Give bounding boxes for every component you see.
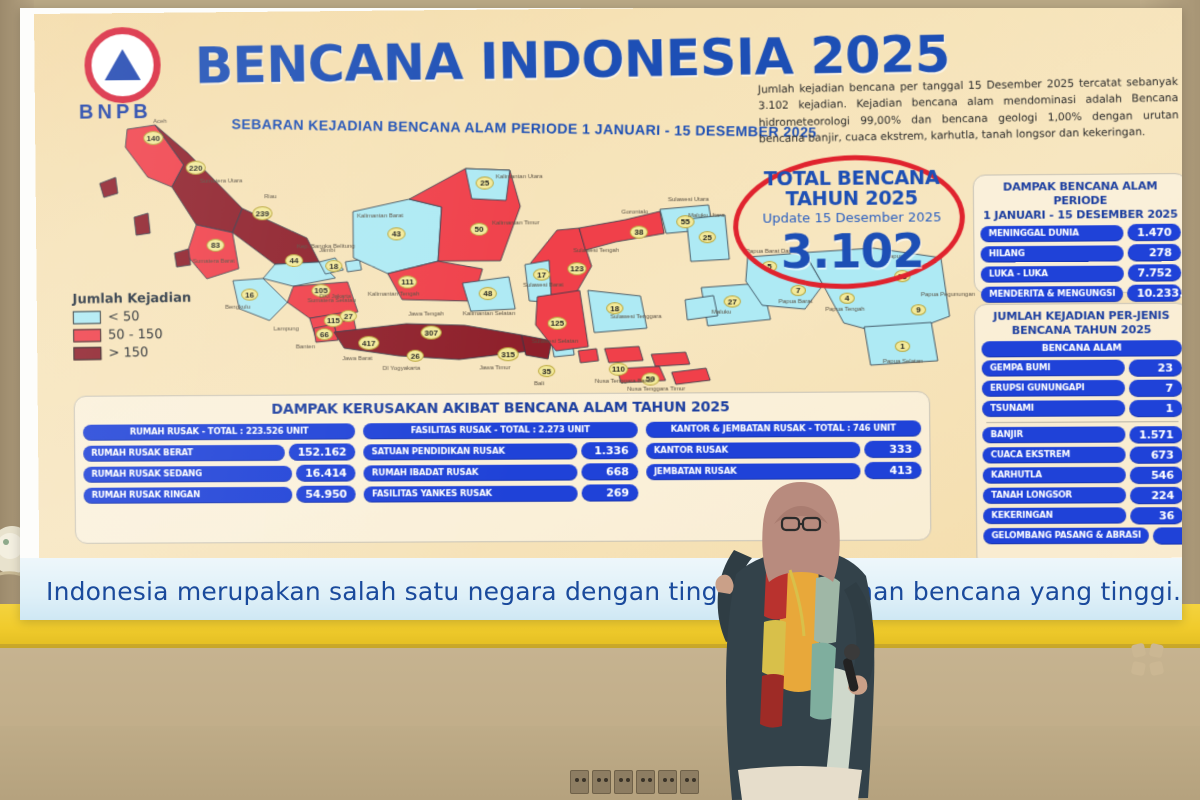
row-meninggal-dunia: MENINGGAL DUNIA 1.470 [980, 224, 1181, 243]
map-bubble-sulawesi-barat: 17 [533, 268, 550, 280]
power-socket [658, 770, 677, 794]
map-bubble-sulawesi-selatan: 125 [548, 317, 567, 330]
legend-label-50-150: 50 - 150 [108, 327, 163, 343]
label-banjir: BANJIR [982, 426, 1125, 443]
label-fasilitas-yankes-rusak: FASILITAS YANKES RUSAK [364, 485, 577, 502]
label-rumah-rusak-ringan: RUMAH RUSAK RINGAN [84, 486, 293, 503]
value-kantor-rusak: 333 [864, 441, 921, 458]
value-luka-luka: 7.752 [1128, 264, 1181, 282]
row-erupsi-gunungapi: ERUPSI GUNUNGAPI 7 [982, 379, 1182, 397]
map-bubble-papua-pegunungan: 9 [911, 304, 926, 315]
map-label-sulawesi-tenggara: Sulawesi Tenggara [610, 314, 661, 320]
label-karhutla: KARHUTLA [983, 467, 1126, 484]
label-rumah-ibadat-rusak: RUMAH IBADAT RUSAK [364, 464, 577, 481]
map-bubble-bangka-belitung: 18 [325, 260, 342, 272]
map-bubble-jawa-timur: 315 [497, 347, 518, 361]
map-bubble-ntb: 110 [609, 363, 628, 376]
map-bubble-jambi: 44 [285, 254, 303, 267]
row-bencana-alam-header: BENCANA ALAM [981, 340, 1182, 357]
map-label-kalimantan-selatan: Kalimantan Selatan [463, 311, 516, 317]
map-label-banten: Banten [296, 344, 315, 350]
value-gelombang-pasang-abrasi: 21 [1153, 527, 1182, 544]
label-tanah-longsor: TANAH LONGSOR [983, 487, 1126, 504]
label-erupsi-gunungapi: ERUPSI GUNUNGAPI [982, 380, 1125, 397]
total-badge-line2: TAHUN 2025 [755, 187, 948, 211]
row-tanah-longsor: TANAH LONGSOR 224 [983, 486, 1182, 504]
map-bubble-kalimantan-utara: 25 [476, 176, 494, 189]
row-rumah-rusak-sedang: RUMAH RUSAK SEDANG 16.414 [83, 464, 356, 482]
value-erupsi-gunungapi: 7 [1129, 379, 1182, 396]
row-satuan-pendidikan-rusak: SATUAN PENDIDIKAN RUSAK 1.336 [364, 442, 638, 460]
map-label-jawa-tengah: Jawa Tengah [408, 311, 444, 317]
map-label-papua-barat: Papua Barat [778, 299, 812, 305]
map-bubble-sulawesi-tenggara: 18 [606, 302, 623, 314]
map-bubble-sumatera-utara: 220 [186, 161, 206, 175]
panel-jenis-title: JUMLAH KEJADIAN PER-JENIS BENCANA TAHUN … [975, 304, 1182, 341]
map-label-kalimantan-utara: Kalimantan Utara [496, 174, 543, 180]
row-hilang: HILANG 278 [981, 244, 1182, 263]
label-gelombang-pasang-abrasi: GELOMBANG PASANG & ABRASI [983, 527, 1149, 544]
map-label-gorontalo: Gorontalo [621, 209, 648, 215]
value-rumah-rusak-berat: 152.162 [288, 443, 355, 460]
map-label-kalimantan-tengah: Kalimantan Tengah [368, 291, 420, 297]
legend-title: Jumlah Kejadian [72, 290, 223, 307]
column-rumah-rusak: RUMAH RUSAK - TOTAL : 223.526 UNIT RUMAH… [83, 423, 356, 507]
map-bubble-sumatera-barat: 83 [206, 239, 224, 252]
map-bubble-kalimantan-tengah: 111 [398, 275, 417, 288]
map-label-ntb: Nusa Tenggara Barat [595, 379, 652, 385]
row-fasilitas-rusak-total: FASILITAS RUSAK - TOTAL : 2.273 UNIT [363, 422, 637, 439]
map-label-kalimantan-timur: Kalimantan Timur [492, 220, 539, 226]
value-satuan-pendidikan-rusak: 1.336 [581, 442, 638, 459]
total-bencana-badge: TOTAL BENCANA TAHUN 2025 Update 15 Desem… [732, 155, 965, 290]
map-label-maluku: Maluku [712, 310, 732, 316]
speaker-presenter [700, 470, 900, 800]
map-label-di-yogyakarta: DI Yogyakarta [383, 366, 421, 372]
wall-socket-row [570, 770, 700, 794]
map-bubble-gorontalo: 38 [630, 226, 648, 239]
label-rumah-rusak-sedang: RUMAH RUSAK SEDANG [83, 465, 292, 482]
value-rumah-ibadat-rusak: 668 [581, 463, 638, 480]
label-kantor-rusak: KANTOR RUSAK [646, 441, 861, 458]
label-hilang: HILANG [981, 245, 1124, 262]
map-bubble-sulawesi-tengah: 123 [567, 262, 586, 275]
panel-dampak-title-line1: DAMPAK BENCANA ALAM PERIODE [980, 179, 1181, 208]
map-bubble-dki-jakarta: 27 [340, 310, 357, 322]
map-label-riau: Riau [264, 194, 276, 200]
value-menderita-mengungsi: 10.233.124 [1127, 285, 1181, 303]
map-bubble-jawa-barat: 417 [358, 336, 379, 350]
row-gempa-bumi: GEMPA BUMI 23 [982, 359, 1182, 377]
power-socket [680, 770, 699, 794]
row-rumah-rusak-ringan: RUMAH RUSAK RINGAN 54.950 [84, 486, 357, 504]
row-kantor-rusak: KANTOR RUSAK 333 [646, 441, 922, 459]
row-rumah-ibadat-rusak: RUMAH IBADAT RUSAK 668 [364, 463, 638, 481]
legend-label-lt50: < 50 [108, 309, 140, 324]
row-gelombang-pasang-abrasi: GELOMBANG PASANG & ABRASI 21 [983, 527, 1182, 545]
map-bubble-bali: 35 [538, 365, 555, 377]
value-karhutla: 546 [1130, 466, 1182, 483]
panel-jenis-title-line1: JUMLAH KEJADIAN PER-JENIS [981, 309, 1181, 324]
value-banjir: 1.571 [1129, 426, 1182, 443]
label-fasilitas-rusak-total: FASILITAS RUSAK - TOTAL : 2.273 UNIT [363, 422, 637, 439]
map-label-kalimantan-barat: Kalimantan Barat [357, 213, 403, 219]
panel-dampak-title: DAMPAK BENCANA ALAM PERIODE 1 JANUARI - … [974, 174, 1182, 225]
panel-jenis-divider [986, 421, 1178, 423]
power-socket [614, 770, 633, 794]
map-bubble-kalimantan-selatan: 48 [479, 287, 497, 300]
label-satuan-pendidikan-rusak: SATUAN PENDIDIKAN RUSAK [364, 443, 577, 460]
legend-label-gt150: > 150 [108, 345, 148, 361]
power-socket [570, 770, 589, 794]
panel-jumlah-kejadian-per-jenis: JUMLAH KEJADIAN PER-JENIS BENCANA TAHUN … [974, 303, 1182, 562]
row-fasilitas-yankes-rusak: FASILITAS YANKES RUSAK 269 [364, 484, 638, 502]
map-bubble-maluku: 27 [724, 295, 741, 307]
bnpb-triangle-icon [104, 49, 140, 80]
map-label-bangka-belitung: Kep. Bangka Belitung [297, 244, 355, 250]
map-label-maluku-utara: Maluku Utara [688, 213, 724, 219]
map-label-aceh: Aceh [153, 119, 167, 125]
map-bubble-papua-selatan: 1 [895, 341, 910, 352]
column-fasilitas-rusak: FASILITAS RUSAK - TOTAL : 2.273 UNIT SAT… [363, 422, 638, 507]
map-label-papua-pegunungan: Papua Pegunungan [921, 292, 975, 298]
value-rumah-rusak-ringan: 54.950 [296, 486, 356, 503]
map-label-sumatera-utara: Sumatera Utara [200, 178, 243, 184]
row-kantor-jembatan-total: KANTOR & JEMBATAN RUSAK - TOTAL : 746 UN… [645, 420, 921, 438]
panel-jenis-title-line2: BENCANA TAHUN 2025 [981, 323, 1181, 338]
row-rumah-rusak-berat: RUMAH RUSAK BERAT 152.162 [83, 443, 356, 461]
map-label-sulawesi-selatan: Sulawesi Selatan [532, 339, 579, 345]
label-tsunami: TSUNAMI [982, 400, 1125, 417]
value-tsunami: 1 [1129, 399, 1182, 416]
label-kekeringan: KEKERINGAN [983, 507, 1126, 524]
map-label-bengkulu: Bengkulu [225, 305, 250, 311]
venue-logo-icon [1128, 640, 1168, 680]
power-socket [636, 770, 655, 794]
value-fasilitas-yankes-rusak: 269 [581, 484, 638, 501]
row-karhutla: KARHUTLA 546 [983, 466, 1182, 484]
map-label-papua-tengah: Papua Tengah [825, 307, 864, 313]
map-label-sulawesi-tengah: Sulawesi Tengah [573, 248, 619, 254]
total-badge-value: 3.102 [743, 223, 961, 279]
map-bubble-kalimantan-timur: 50 [470, 223, 488, 236]
label-rumah-rusak-berat: RUMAH RUSAK BERAT [83, 444, 284, 461]
map-label-papua-selatan: Papua Selatan [883, 359, 923, 365]
map-bubble-banten: 66 [316, 328, 333, 340]
legend-item-lt50: < 50 [73, 308, 224, 325]
map-bubble-riau: 239 [252, 206, 272, 220]
panel-dampak-bencana: DAMPAK BENCANA ALAM PERIODE 1 JANUARI - … [973, 173, 1182, 294]
map-label-jawa-timur: Jawa Timur [479, 365, 510, 371]
map-bubble-maluku-utara: 25 [699, 231, 716, 243]
label-luka-luka: LUKA - LUKA [981, 265, 1124, 282]
map-bubble-bengkulu: 16 [241, 289, 258, 301]
map-label-bali: Bali [534, 381, 544, 387]
map-bubble-kalimantan-barat: 43 [387, 227, 405, 240]
panel-dampak-title-line2: 1 JANUARI - 15 DESEMBER 2025 [980, 207, 1180, 222]
value-tanah-longsor: 224 [1130, 486, 1182, 503]
legend-swatch-gt150 [73, 347, 101, 360]
map-label-sumatera-barat: Sumatera Barat [193, 259, 235, 265]
label-menderita-mengungsi: MENDERITA & MENGUNGSI [981, 286, 1124, 303]
power-socket [592, 770, 611, 794]
slide-caption-band: Indonesia merupakan salah satu negara de… [20, 558, 1182, 620]
value-hilang: 278 [1128, 244, 1181, 262]
label-gempa-bumi: GEMPA BUMI [982, 360, 1125, 377]
map-label-jawa-barat: Jawa Barat [342, 356, 372, 362]
value-kekeringan: 36 [1130, 507, 1182, 524]
row-menderita-mengungsi: MENDERITA & MENGUNGSI 10.233.124 [981, 285, 1182, 304]
map-bubble-jawa-tengah: 307 [421, 325, 442, 339]
legend-swatch-50-150 [73, 329, 101, 342]
label-bencana-alam: BENCANA ALAM [981, 340, 1182, 357]
value-rumah-rusak-sedang: 16.414 [296, 464, 356, 481]
slide-caption-text: Indonesia merupakan salah satu negara de… [46, 577, 1166, 606]
row-luka-luka: LUKA - LUKA 7.752 [981, 264, 1182, 283]
row-tsunami: TSUNAMI 1 [982, 399, 1182, 417]
value-gempa-bumi: 23 [1129, 359, 1182, 377]
map-legend: Jumlah Kejadian < 50 50 - 150 > 150 [72, 290, 223, 361]
value-meninggal-dunia: 1.470 [1127, 224, 1180, 242]
row-rumah-rusak-total: RUMAH RUSAK - TOTAL : 223.526 UNIT [83, 423, 355, 440]
map-bubble-di-yogyakarta: 26 [407, 350, 424, 362]
row-banjir: BANJIR 1.571 [982, 426, 1182, 444]
map-bubble-papua-tengah: 4 [839, 293, 854, 304]
map-label-sulawesi-utara: Sulawesi Utara [668, 197, 709, 203]
projection-screen: BNPB BENCANA INDONESIA 2025 SEBARAN KEJA… [20, 8, 1182, 620]
map-label-dki-jakarta: DKI Jakarta [320, 294, 352, 300]
legend-item-50-150: 50 - 150 [73, 326, 224, 343]
map-bubble-aceh: 140 [143, 131, 163, 145]
label-kantor-jembatan-total: KANTOR & JEMBATAN RUSAK - TOTAL : 746 UN… [645, 420, 921, 438]
legend-swatch-lt50 [73, 311, 101, 324]
label-meninggal-dunia: MENINGGAL DUNIA [980, 225, 1123, 242]
map-label-sulawesi-barat: Sulawesi Barat [523, 282, 564, 288]
row-kekeringan: KEKERINGAN 36 [983, 507, 1182, 525]
label-rumah-rusak-total: RUMAH RUSAK - TOTAL : 223.526 UNIT [83, 423, 355, 440]
label-cuaca-ekstrem: CUACA EKSTREM [982, 447, 1125, 464]
legend-item-gt150: > 150 [73, 344, 224, 361]
row-cuaca-ekstrem: CUACA EKSTREM 673 [982, 446, 1182, 464]
value-cuaca-ekstrem: 673 [1130, 446, 1182, 463]
map-label-lampung: Lampung [274, 326, 299, 332]
slide-bencana-indonesia-2025: BNPB BENCANA INDONESIA 2025 SEBARAN KEJA… [34, 8, 1182, 562]
bnpb-logo: BNPB [70, 25, 175, 126]
